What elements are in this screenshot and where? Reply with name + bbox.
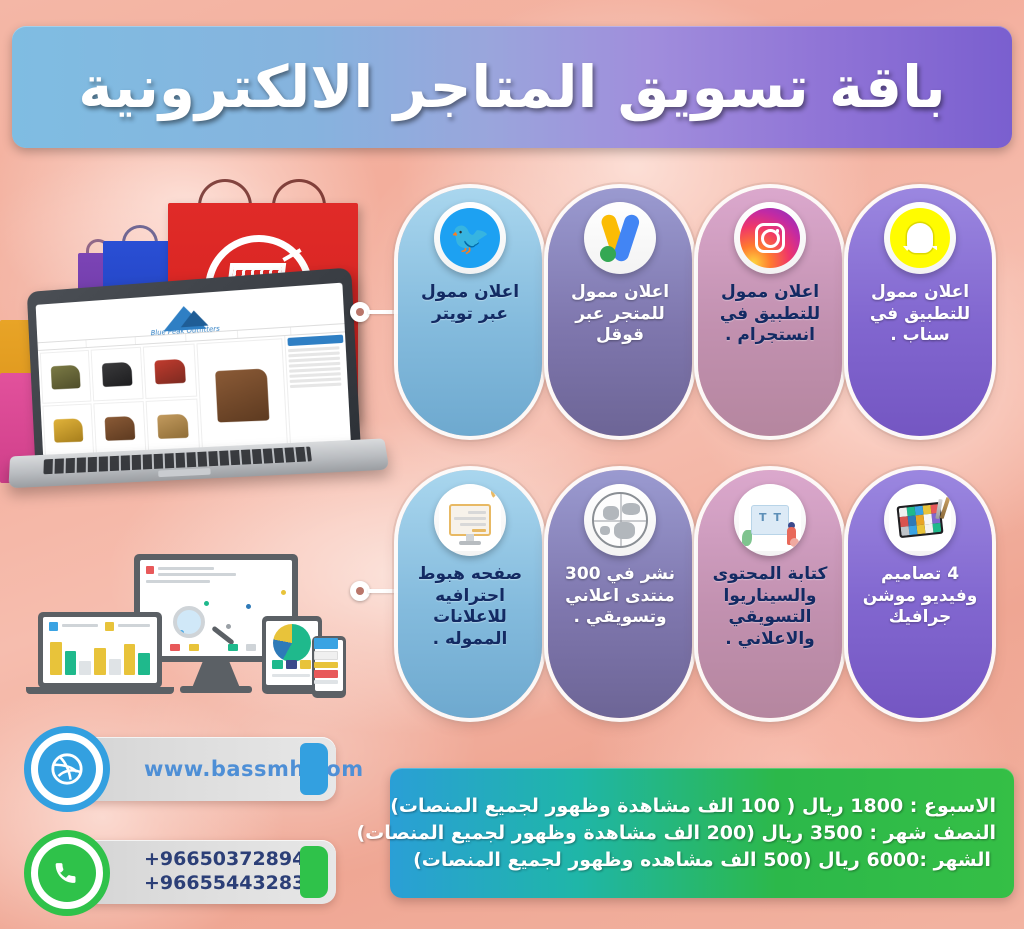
whatsapp-mark — [38, 844, 96, 902]
whatsapp-icon — [24, 830, 110, 916]
legend-line — [118, 624, 150, 627]
art-cell — [901, 526, 910, 536]
bar — [94, 648, 106, 675]
dribbble-icon — [24, 726, 110, 812]
page-line — [472, 529, 486, 532]
card-label: اعلان ممول للتطبيق في انستجرام . — [707, 282, 833, 347]
price-line-month: الشهر :6000 ريال (500 الف مشاهده وظهور ل… — [408, 849, 996, 871]
chart-node — [202, 599, 211, 608]
card-google-ads[interactable]: اعلان ممول للمتجر عبر قوقل — [548, 188, 692, 436]
card-label: اعلان ممول عبر تويتر — [407, 282, 533, 325]
tablet-artwork — [899, 504, 942, 536]
monitor-stand — [192, 662, 240, 688]
legend-swatch — [189, 644, 199, 651]
legend-swatch — [170, 644, 180, 651]
legend-line — [158, 567, 214, 570]
card-label: 4 تصاميم وفيديو موشن جرافيك — [857, 564, 983, 629]
phone-numbers: +966503728947 +966554432830 — [144, 848, 319, 896]
pie-chart — [273, 624, 311, 662]
mountain-logo-icon — [180, 310, 208, 328]
product-image — [215, 368, 270, 422]
globe-icon — [584, 484, 656, 556]
product-card — [143, 344, 197, 399]
legend-line — [62, 624, 98, 627]
instagram-camera-icon — [755, 223, 785, 253]
product-card — [93, 401, 146, 455]
card-label: اعلان ممول للمتجر عبر قوقل — [557, 282, 683, 347]
card-label: صفحه هبوط احترافيه للاعلانات المموله . — [407, 564, 533, 650]
product-grid — [38, 336, 290, 457]
laptop-base — [26, 687, 174, 694]
pricing-banner: الاسبوع : 1800 ريال ( 100 الف مشاهدة وظه… — [390, 768, 1014, 898]
product-card — [42, 403, 94, 456]
page-title: باقة تسويق المتاجر الالكترونية — [78, 53, 945, 121]
website-url: www.bassmh.com — [144, 757, 364, 781]
price-line-half-month: النصف شهر : 3500 ريال (200 الف مشاهدة وظ… — [408, 822, 996, 844]
card-label: كتابة المحتوى والسيناريوا التسويقي والاع… — [707, 564, 833, 650]
card-forum-posting[interactable]: نشر في 300 منتدى اعلاني وتسويقي . — [548, 470, 692, 718]
google-ads-mark — [592, 210, 648, 266]
google-ads-icon — [584, 202, 656, 274]
store-filter-sidebar — [284, 332, 351, 450]
service-cards-row-1: 🐦 اعلان ممول عبر تويتر اعلان ممول للمتجر… — [398, 188, 1018, 436]
chart-node — [224, 622, 233, 631]
analytics-devices-illustration — [12, 548, 372, 718]
laptop-screen: Blue Peak Outfitters — [36, 283, 351, 457]
phone-number-2: +966554432830 — [144, 872, 319, 896]
laptop-illustration: Blue Peak Outfitters — [10, 280, 390, 500]
whiteboard-icon: T T — [751, 505, 789, 535]
bar — [50, 642, 62, 675]
globe-continent — [600, 526, 610, 535]
product-image — [154, 358, 186, 384]
card-instagram-ad[interactable]: اعلان ممول للتطبيق في انستجرام . — [698, 188, 842, 436]
bar — [109, 659, 121, 675]
laptop-trackpad — [158, 468, 211, 477]
leaf-decoration-icon — [790, 538, 799, 547]
monitor-icon — [449, 504, 491, 536]
graphic-design-icon — [884, 484, 956, 556]
title-banner: باقة تسويق المتاجر الالكترونية — [12, 26, 1012, 148]
product-image — [50, 364, 80, 389]
monitor-foot — [459, 541, 481, 545]
twitter-bird-icon: 🐦 — [440, 208, 500, 268]
legend-swatch — [272, 660, 283, 669]
connector-dot — [350, 302, 370, 322]
monitor-foot — [180, 686, 252, 693]
art-cell — [917, 524, 926, 534]
chart-node — [244, 602, 253, 611]
art-cell — [909, 525, 918, 535]
landing-page-mark — [439, 489, 501, 551]
product-card — [146, 399, 201, 454]
legend-swatch — [228, 644, 238, 651]
bar — [124, 644, 136, 675]
ui-block — [315, 670, 338, 678]
laptop-lid: Blue Peak Outfitters — [27, 267, 362, 466]
art-cell — [932, 523, 941, 533]
page-line — [460, 523, 486, 526]
phone-screen — [315, 640, 343, 691]
product-card — [40, 350, 92, 404]
legend-line — [146, 580, 210, 583]
art-cell — [924, 523, 933, 533]
connector-dot — [350, 581, 370, 601]
chart-node — [279, 588, 288, 597]
tablet-screen-chart — [266, 621, 318, 685]
page-line — [454, 517, 486, 520]
filter-row — [290, 383, 342, 389]
bar — [79, 661, 91, 675]
store-body — [38, 332, 351, 456]
card-label: اعلان ممول للتطبيق في سناب . — [857, 282, 983, 347]
price-line-week: الاسبوع : 1800 ريال ( 100 الف مشاهدة وظه… — [408, 795, 996, 817]
ui-block — [315, 662, 338, 668]
bar — [138, 653, 150, 675]
hero-ecommerce-illustration: online Blue Peak Outfitters — [0, 175, 400, 510]
card-twitter-ad[interactable]: 🐦 اعلان ممول عبر تويتر — [398, 188, 542, 436]
phone-icon — [312, 636, 346, 698]
globe-mark — [592, 492, 648, 548]
landing-page-icon — [434, 484, 506, 556]
page-line — [468, 511, 486, 514]
globe-continent — [603, 506, 619, 520]
ui-block — [315, 640, 338, 649]
snapchat-mark — [890, 208, 950, 268]
content-writing-icon: T T — [734, 484, 806, 556]
product-image — [101, 361, 132, 387]
content-writing-mark: T T — [739, 489, 801, 551]
legend-line — [158, 573, 236, 576]
card-landing-page[interactable]: صفحه هبوط احترافيه للاعلانات المموله . — [398, 470, 542, 718]
instagram-icon — [734, 202, 806, 274]
product-image — [104, 416, 135, 441]
dribbble-mark — [38, 740, 96, 798]
globe-continent — [614, 522, 635, 539]
graphic-design-mark — [889, 489, 951, 551]
instagram-mark — [740, 208, 800, 268]
legend-swatch — [49, 622, 58, 631]
service-cards-row-2: صفحه هبوط احترافيه للاعلانات المموله . ن… — [398, 470, 1018, 718]
phone-number-1: +966503728947 — [144, 848, 319, 872]
legend-line — [272, 674, 310, 677]
letter-t-icon: T — [773, 511, 781, 524]
cursor-arrow-icon — [491, 484, 506, 500]
bar-chart — [50, 637, 150, 675]
infographic-poster: باقة تسويق المتاجر الالكترونية online — [0, 0, 1024, 929]
product-image — [53, 418, 83, 443]
card-snapchat-ad[interactable]: اعلان ممول للتطبيق في سناب . — [848, 188, 992, 436]
snapchat-ghost-icon — [907, 223, 933, 253]
snapchat-icon — [884, 202, 956, 274]
bar — [65, 651, 77, 675]
legend-swatch — [105, 622, 114, 631]
legend-swatch — [146, 566, 154, 574]
ui-block — [315, 651, 338, 660]
twitter-icon: 🐦 — [434, 202, 506, 274]
service-cards-area: 🐦 اعلان ممول عبر تويتر اعلان ممول للمتجر… — [398, 188, 1018, 733]
laptop-icon — [38, 612, 162, 688]
gads-green-dot — [600, 246, 616, 262]
product-image — [157, 413, 189, 439]
card-label: نشر في 300 منتدى اعلاني وتسويقي . — [557, 564, 683, 629]
filter-button — [287, 335, 343, 347]
ui-block — [315, 680, 338, 684]
legend-swatch — [246, 644, 256, 651]
product-card — [91, 347, 144, 402]
card-graphic-design[interactable]: 4 تصاميم وفيديو موشن جرافيك — [848, 470, 992, 718]
laptop-screen-chart — [43, 617, 157, 683]
legend-swatch — [300, 660, 311, 669]
card-content-writing[interactable]: T T كتابة المحتوى والسيناريوا التسويقي و… — [698, 470, 842, 718]
letter-t-icon: T — [759, 511, 767, 524]
legend-swatch — [286, 660, 297, 669]
globe-continent — [622, 503, 640, 515]
product-card-featured — [197, 338, 289, 451]
